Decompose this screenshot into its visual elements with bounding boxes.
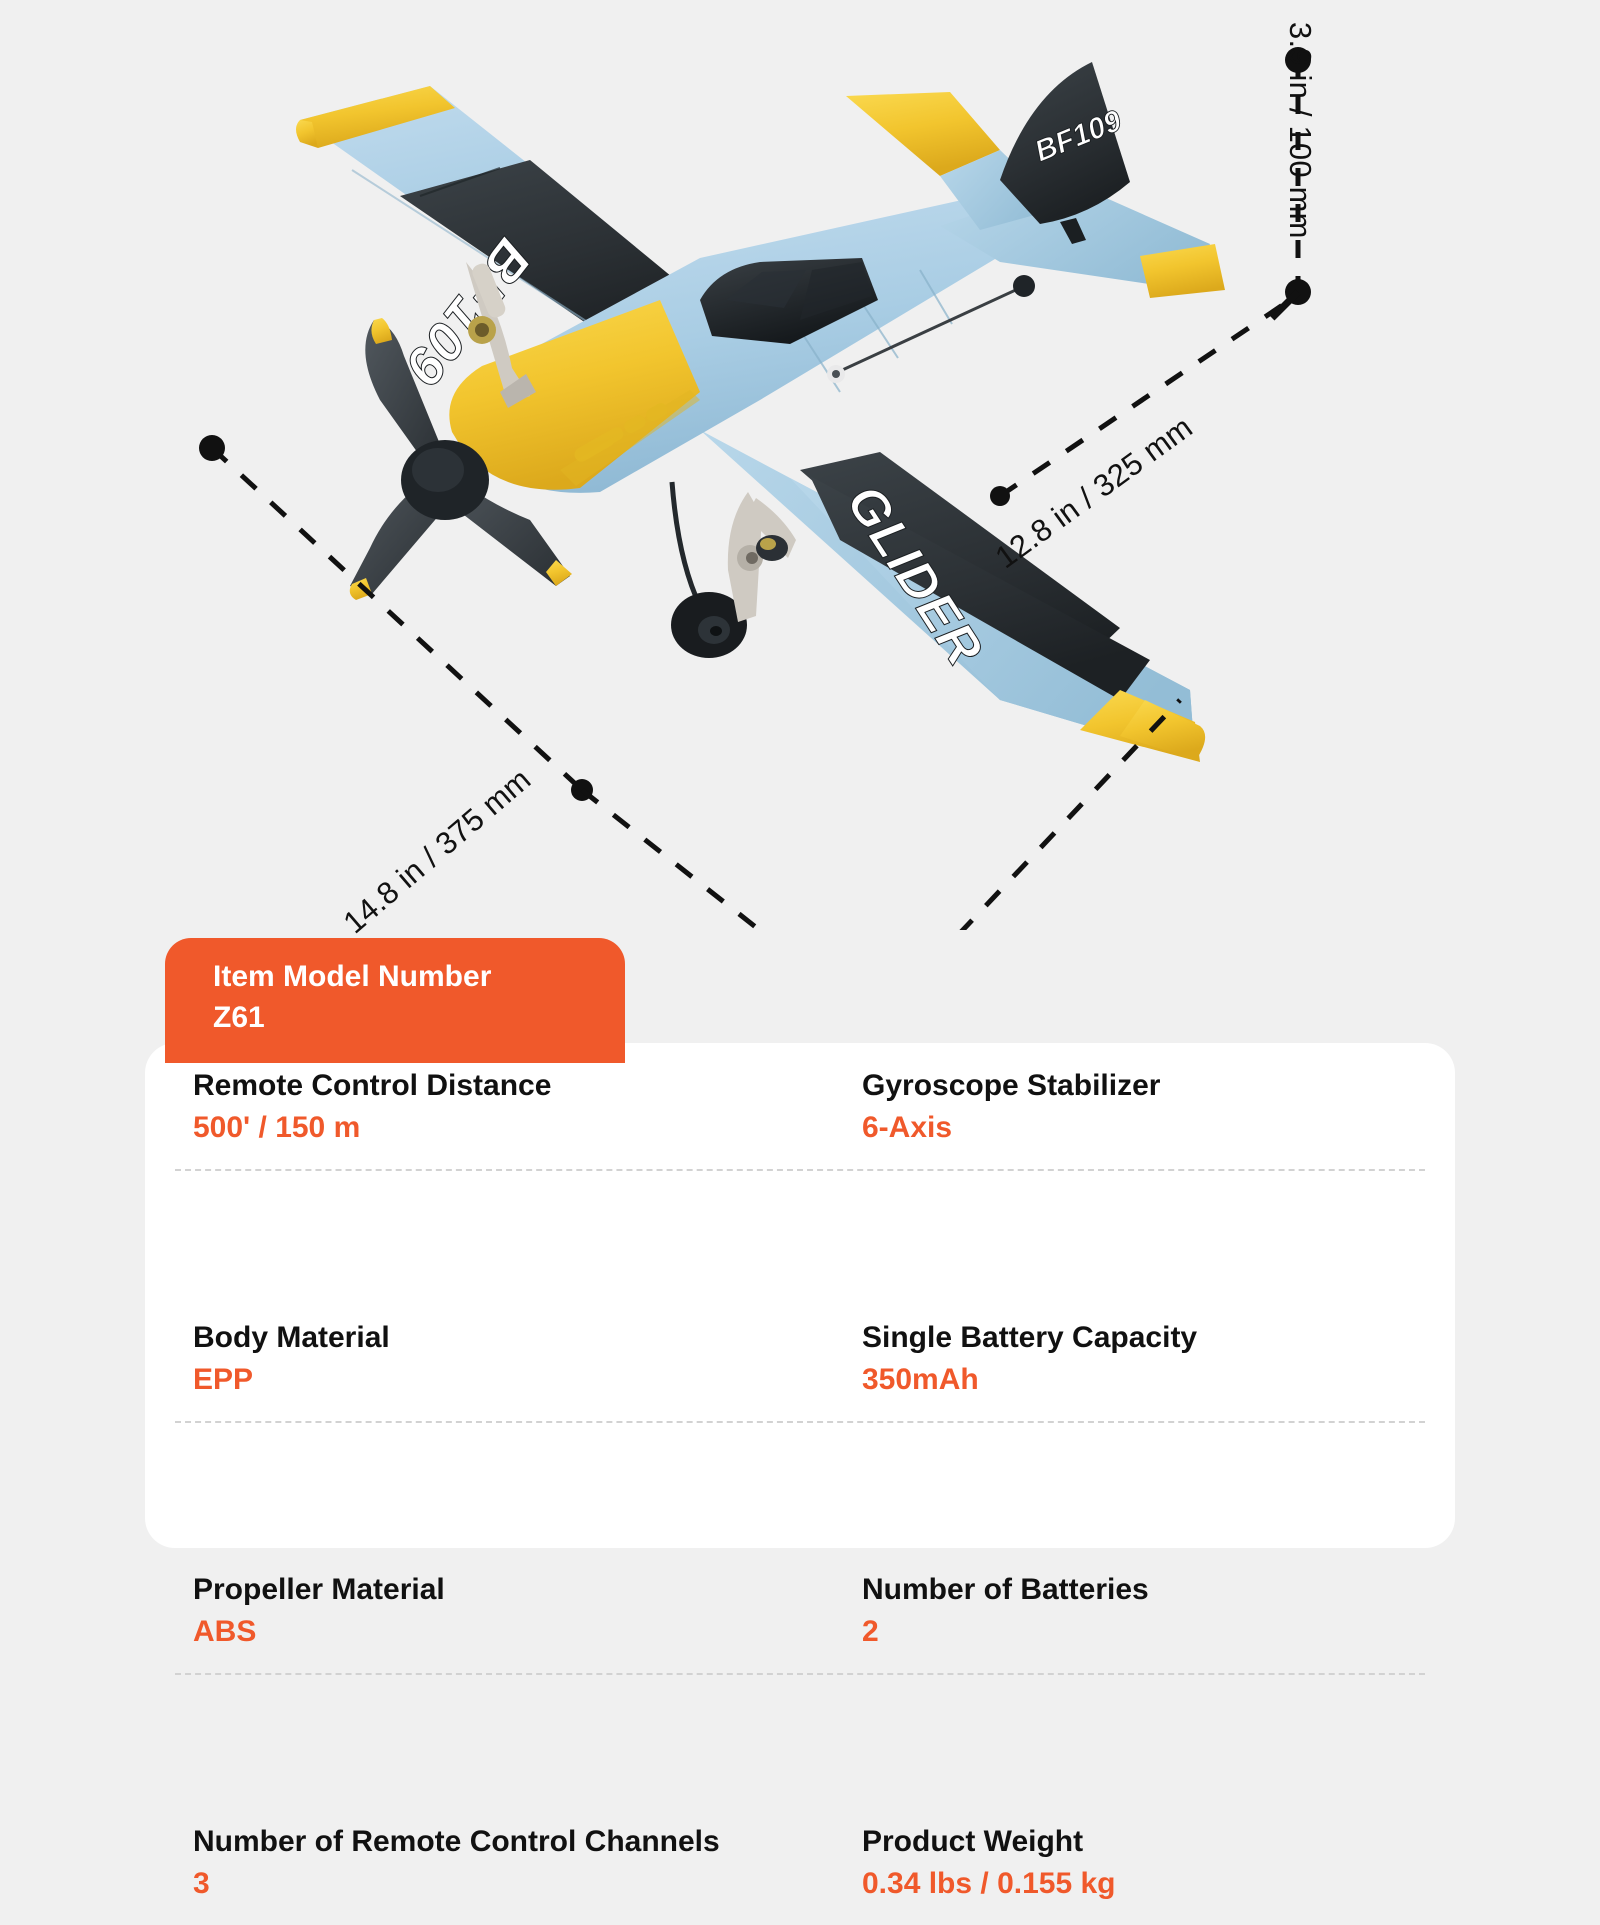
spec-cell-number-of-batteries: Number of Batteries 2	[800, 1547, 1455, 1673]
dim-line-wingspan-b	[582, 790, 876, 930]
spec-key: Number of Batteries	[862, 1569, 1427, 1611]
spec-key: Number of Remote Control Channels	[193, 1821, 772, 1863]
spec-cell-number-of-remote-control-channels: Number of Remote Control Channels 3	[145, 1799, 800, 1925]
spec-key: Single Battery Capacity	[862, 1317, 1427, 1359]
spec-value: 350mAh	[862, 1359, 1427, 1401]
spec-cell-product-weight: Product Weight 0.34 lbs / 0.155 kg	[800, 1799, 1455, 1925]
row-divider	[175, 1421, 1425, 1423]
spec-value: 0.34 lbs / 0.155 kg	[862, 1863, 1427, 1905]
spec-value: ABS	[193, 1611, 772, 1653]
spec-key: Propeller Material	[193, 1569, 772, 1611]
spec-value: 6-Axis	[862, 1107, 1427, 1149]
spec-value: 2	[862, 1611, 1427, 1653]
specification-grid: Remote Control Distance 500' / 150 m Gyr…	[145, 1043, 1455, 1548]
spec-cell-single-battery-capacity: Single Battery Capacity 350mAh	[800, 1295, 1455, 1421]
spec-value: EPP	[193, 1359, 772, 1401]
dimension-height-label: 3.9 in / 100 mm	[1282, 22, 1318, 239]
dim-guide-right	[876, 700, 1180, 930]
specification-card: Remote Control Distance 500' / 150 m Gyr…	[145, 1043, 1455, 1548]
dim-line-wingspan-a	[212, 448, 582, 790]
row-divider	[175, 1673, 1425, 1675]
row-divider	[175, 1169, 1425, 1171]
spec-cell-body-material: Body Material EPP	[145, 1295, 800, 1421]
spec-key: Gyroscope Stabilizer	[862, 1065, 1427, 1107]
spec-key: Remote Control Distance	[193, 1065, 772, 1107]
spec-value: 3	[193, 1863, 772, 1905]
spec-value: 500' / 150 m	[193, 1107, 772, 1149]
item-model-number-tab: Item Model Number Z61	[165, 938, 625, 1063]
spec-cell-gyroscope-stabilizer: Gyroscope Stabilizer 6-Axis	[800, 1043, 1455, 1169]
spec-key: Body Material	[193, 1317, 772, 1359]
spec-cell-propeller-material: Propeller Material ABS	[145, 1547, 800, 1673]
product-photo: BF109 GLIDER	[0, 0, 1600, 930]
dimension-lines	[0, 0, 1600, 930]
item-model-number-label: Item Model Number	[213, 956, 625, 997]
item-model-number-value: Z61	[213, 997, 625, 1038]
spec-key: Product Weight	[862, 1821, 1427, 1863]
